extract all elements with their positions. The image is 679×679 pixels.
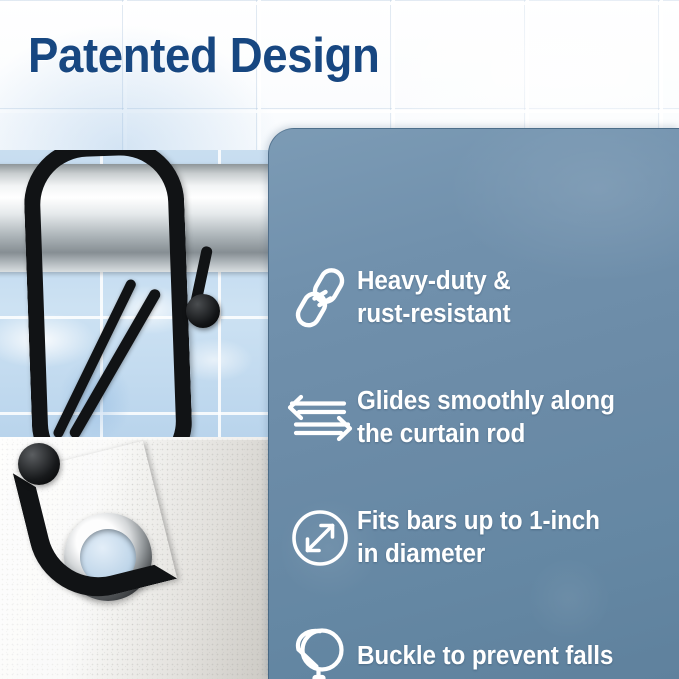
feature-label-glides-smoothly: Glides smoothly along the curtain rod [357, 385, 664, 451]
feature-line: the curtain rod [357, 418, 656, 451]
product-infographic: Patented Design [0, 0, 679, 679]
feature-line: Buckle to prevent falls [357, 640, 656, 673]
feature-item-buckle: Buckle to prevent falls [269, 623, 679, 679]
feature-panel: Heavy-duty & rust-resistant [268, 128, 679, 679]
feature-line: Fits bars up to 1-inch [357, 505, 656, 538]
buckle-clasp-icon [283, 623, 357, 679]
feature-line: Heavy-duty & [357, 265, 656, 298]
hook-pivot-knob [186, 294, 220, 328]
page-title: Patented Design [28, 28, 379, 84]
hook-curve-over-rod [22, 150, 194, 437]
chain-link-icon [283, 267, 357, 329]
feature-item-heavy-duty: Heavy-duty & rust-resistant [269, 265, 679, 331]
photo-hook-on-rod [0, 150, 272, 437]
photo-hook-through-grommet [0, 437, 272, 679]
feature-label-buckle: Buckle to prevent falls [357, 640, 664, 673]
photo-divider [0, 437, 272, 440]
product-photo-column [0, 150, 272, 679]
feature-label-fits-bars: Fits bars up to 1-inch in diameter [357, 505, 664, 571]
feature-line: rust-resistant [357, 298, 656, 331]
bidirectional-arrows-icon [283, 391, 357, 445]
diameter-arrow-circle-icon [283, 508, 357, 568]
feature-list: Heavy-duty & rust-resistant [269, 129, 679, 679]
feature-item-fits-bars: Fits bars up to 1-inch in diameter [269, 505, 679, 571]
feature-line: Glides smoothly along [357, 385, 656, 418]
feature-item-glides-smoothly: Glides smoothly along the curtain rod [269, 385, 679, 451]
feature-line: in diameter [357, 538, 656, 571]
hook-rounded-end-ball [18, 443, 60, 485]
feature-label-heavy-duty: Heavy-duty & rust-resistant [357, 265, 664, 331]
